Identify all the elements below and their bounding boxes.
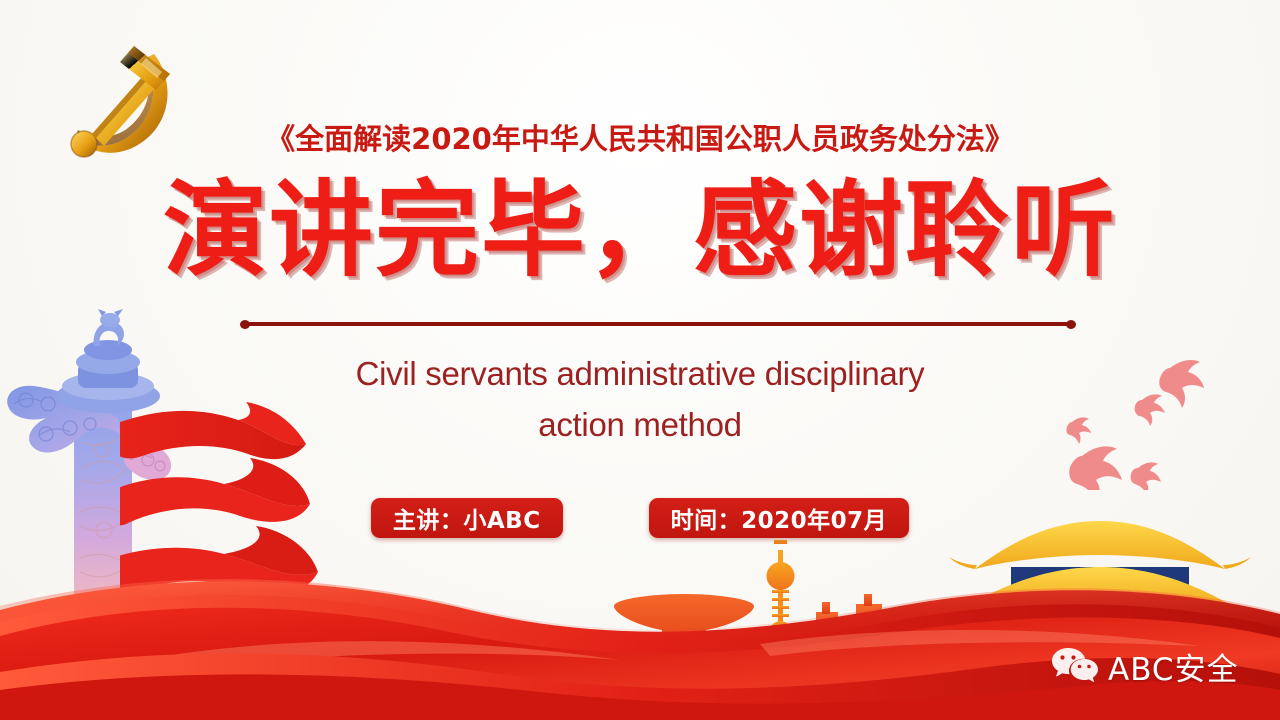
red-silk-wave	[0, 540, 1280, 720]
divider	[240, 320, 1076, 328]
watermark: ABC安全	[1052, 644, 1239, 689]
wechat-icon	[1052, 646, 1098, 687]
speaker-badge: 主讲：小ABC	[371, 498, 563, 538]
watermark-label: ABC安全	[1108, 644, 1239, 689]
divider-bar	[246, 322, 1070, 326]
date-badge: 时间：2020年07月	[649, 498, 910, 538]
presentation-slide: 中华人民共和国万岁 世界人民大团结万岁	[0, 0, 1280, 720]
deck-subtitle-english: Civil servants administrative disciplina…	[0, 348, 1280, 450]
page-title: 演讲完毕，感谢聆听	[0, 172, 1280, 288]
deck-subtitle-english-line1: Civil servants administrative disciplina…	[0, 348, 1280, 399]
deck-subtitle-english-line2: action method	[0, 399, 1280, 450]
tiananmen-banner-left: 中华人民共和国万岁	[979, 658, 1056, 669]
deck-subtitle: 《全面解读2020年中华人民共和国公职人员政务处分法》	[0, 116, 1280, 158]
meta-row: 主讲：小ABC 时间：2020年07月	[0, 498, 1280, 538]
city-skyline-silhouette	[600, 540, 1000, 670]
divider-dot-right	[1066, 320, 1076, 329]
